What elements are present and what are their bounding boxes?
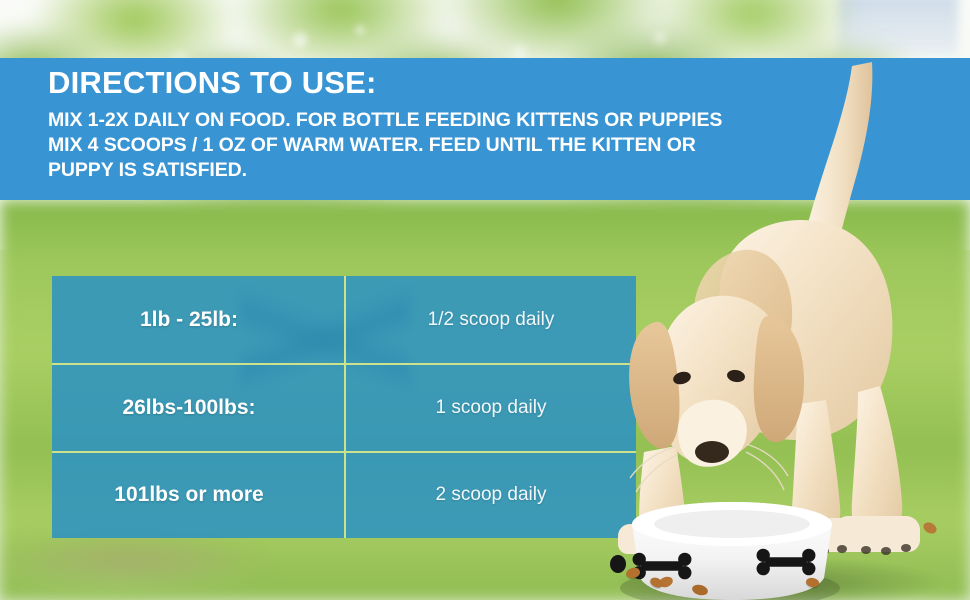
table-row: 26lbs-100lbs: — [52, 363, 344, 450]
dose-amount-label: 1 scoop daily — [436, 397, 547, 419]
dosage-table: 1lb - 25lb: 1/2 scoop daily 26lbs-100lbs… — [52, 276, 636, 538]
directions-body-text: MIX 1-2X DAILY ON FOOD. FOR BOTTLE FEEDI… — [48, 108, 748, 182]
page-title: DIRECTIONS TO USE: — [48, 66, 748, 99]
table-row: 2 scoop daily — [344, 451, 636, 538]
directions-text-block: DIRECTIONS TO USE: MIX 1-2X DAILY ON FOO… — [48, 66, 748, 183]
weight-range-label: 101lbs or more — [114, 483, 263, 507]
poster-canvas: DIRECTIONS TO USE: MIX 1-2X DAILY ON FOO… — [0, 0, 970, 600]
dose-amount-label: 1/2 scoop daily — [428, 309, 555, 331]
weight-range-label: 1lb - 25lb: — [140, 308, 238, 332]
table-row: 1lb - 25lb: — [52, 276, 344, 363]
table-row: 101lbs or more — [52, 451, 344, 538]
dose-amount-label: 2 scoop daily — [436, 484, 547, 506]
weight-range-label: 26lbs-100lbs: — [122, 396, 255, 420]
table-row: 1 scoop daily — [344, 363, 636, 450]
table-row: 1/2 scoop daily — [344, 276, 636, 363]
